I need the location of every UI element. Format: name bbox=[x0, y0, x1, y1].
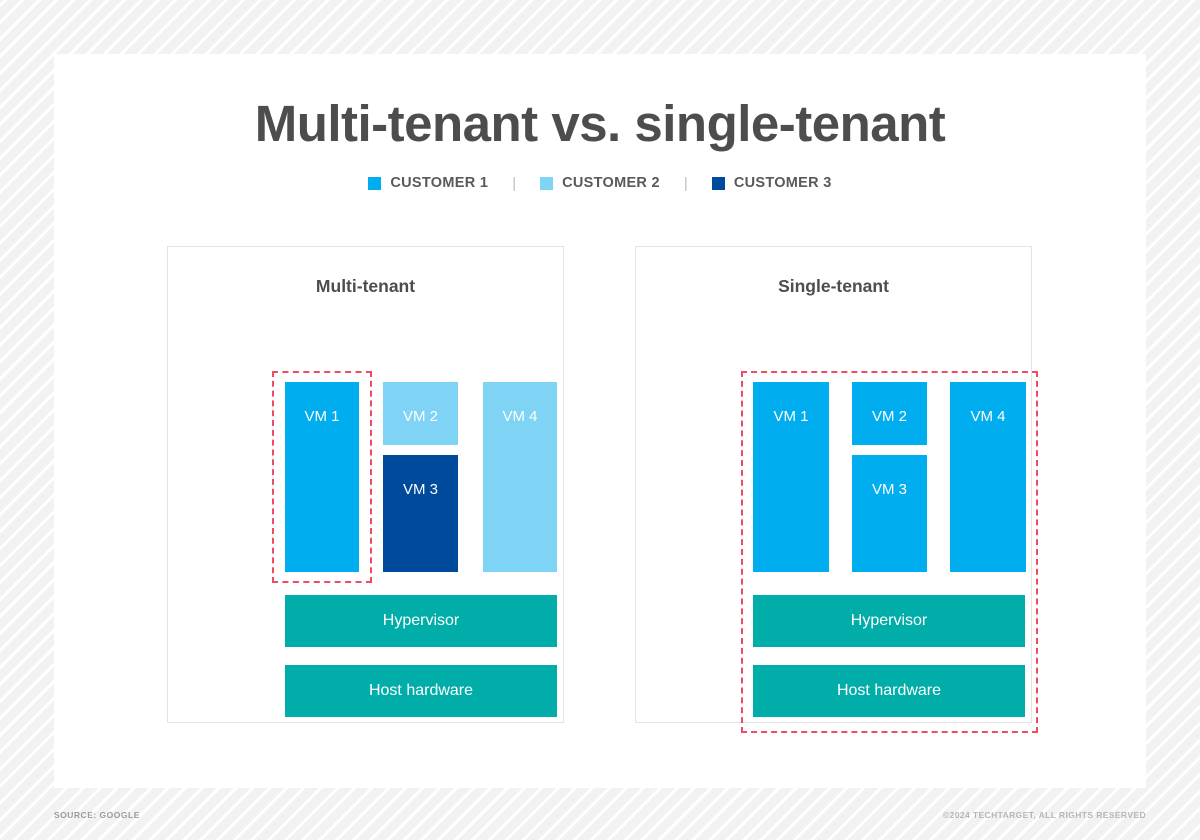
legend-label: CUSTOMER 3 bbox=[734, 175, 832, 191]
vm-stack: VM 1 VM 2 VM 3 VM 4 Hypervisor Host hard… bbox=[168, 247, 563, 722]
copyright-notice: ©2024 TECHTARGET, ALL RIGHTS RESERVED bbox=[943, 810, 1146, 820]
legend-swatch-icon bbox=[368, 177, 381, 190]
legend-swatch-icon bbox=[540, 177, 553, 190]
legend-label: CUSTOMER 1 bbox=[390, 175, 488, 191]
vm-block-vm-1: VM 1 bbox=[753, 382, 829, 572]
vm-stack: VM 1 VM 2 VM 3 VM 4 Hypervisor Host hard… bbox=[636, 247, 1031, 722]
content-card: Multi-tenant vs. single-tenant CUSTOMER … bbox=[54, 54, 1146, 788]
vm-block-vm-2: VM 2 bbox=[383, 382, 458, 445]
legend-item-customer-3: CUSTOMER 3 bbox=[712, 175, 832, 191]
vm-block-vm-4: VM 4 bbox=[950, 382, 1026, 572]
hypervisor-bar: Hypervisor bbox=[753, 595, 1025, 647]
vm-block-vm-4: VM 4 bbox=[483, 382, 557, 572]
legend-item-customer-2: CUSTOMER 2 bbox=[540, 175, 660, 191]
source-credit: SOURCE: GOOGLE bbox=[54, 810, 140, 820]
page-title: Multi-tenant vs. single-tenant bbox=[54, 94, 1146, 153]
host-hardware-bar: Host hardware bbox=[285, 665, 557, 717]
panel-multi-tenant: Multi-tenant VM 1 VM 2 VM 3 VM 4 Hypervi… bbox=[167, 246, 564, 723]
legend-swatch-icon bbox=[712, 177, 725, 190]
vm-block-vm-3: VM 3 bbox=[383, 455, 458, 572]
legend-label: CUSTOMER 2 bbox=[562, 175, 660, 191]
panel-single-tenant: Single-tenant VM 1 VM 2 VM 3 VM 4 Hyperv… bbox=[635, 246, 1032, 723]
legend: CUSTOMER 1 | CUSTOMER 2 | CUSTOMER 3 bbox=[54, 175, 1146, 191]
vm-block-vm-1: VM 1 bbox=[285, 382, 359, 572]
hypervisor-bar: Hypervisor bbox=[285, 595, 557, 647]
legend-separator: | bbox=[660, 176, 712, 191]
legend-separator: | bbox=[488, 176, 540, 191]
vm-block-vm-3: VM 3 bbox=[852, 455, 927, 572]
vm-block-vm-2: VM 2 bbox=[852, 382, 927, 445]
legend-item-customer-1: CUSTOMER 1 bbox=[368, 175, 488, 191]
host-hardware-bar: Host hardware bbox=[753, 665, 1025, 717]
diagram-canvas: Multi-tenant vs. single-tenant CUSTOMER … bbox=[0, 0, 1200, 840]
